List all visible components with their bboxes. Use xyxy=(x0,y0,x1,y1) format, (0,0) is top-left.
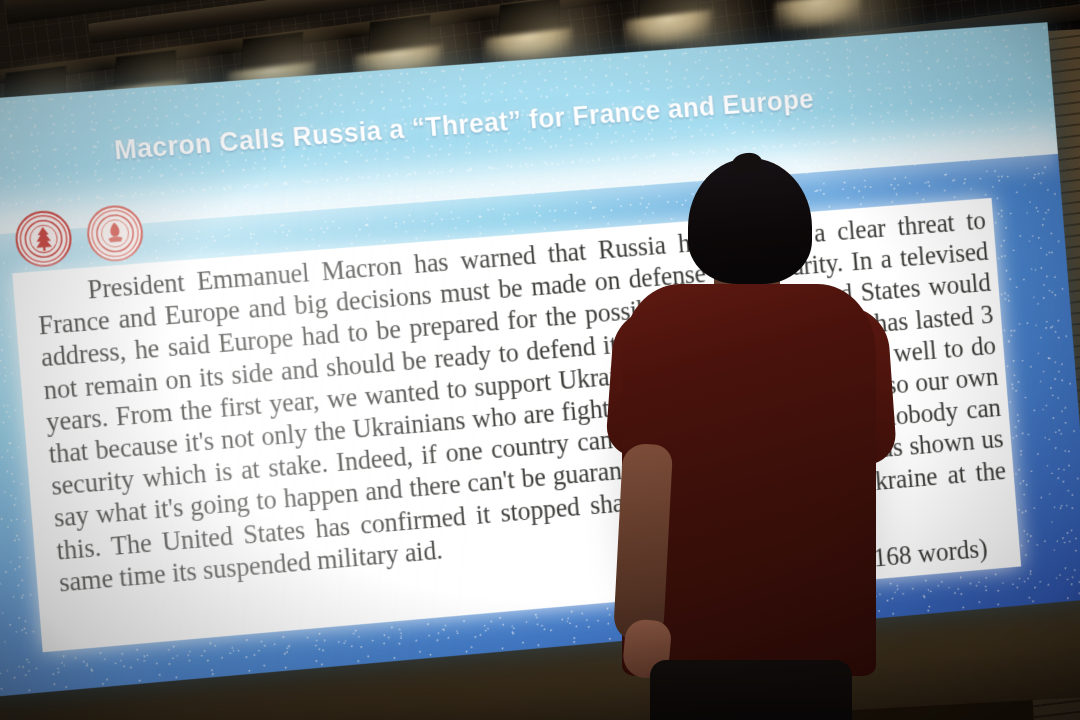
article-body-text: President Emmanuel Macron has warned tha… xyxy=(35,204,1010,598)
led-wall-display[interactable]: Macron Calls Russia a “Threat” for Franc… xyxy=(0,22,1080,697)
university-seal-pine-icon xyxy=(13,209,73,269)
ceiling-lamp xyxy=(499,0,560,45)
ceiling-lamp xyxy=(369,16,430,63)
ceiling-lamp xyxy=(639,0,700,27)
ceiling-lamp xyxy=(789,0,850,9)
article-card: President Emmanuel Macron has warned tha… xyxy=(12,198,1021,652)
display-surface: Macron Calls Russia a “Threat” for Franc… xyxy=(0,22,1080,697)
scene-root: Macron Calls Russia a “Threat” for Franc… xyxy=(0,0,1080,720)
article-word-count: (168 words) xyxy=(864,533,988,574)
university-seal-figure-icon xyxy=(85,203,145,263)
ceiling-lamp xyxy=(242,33,303,80)
logo-group xyxy=(13,203,145,268)
